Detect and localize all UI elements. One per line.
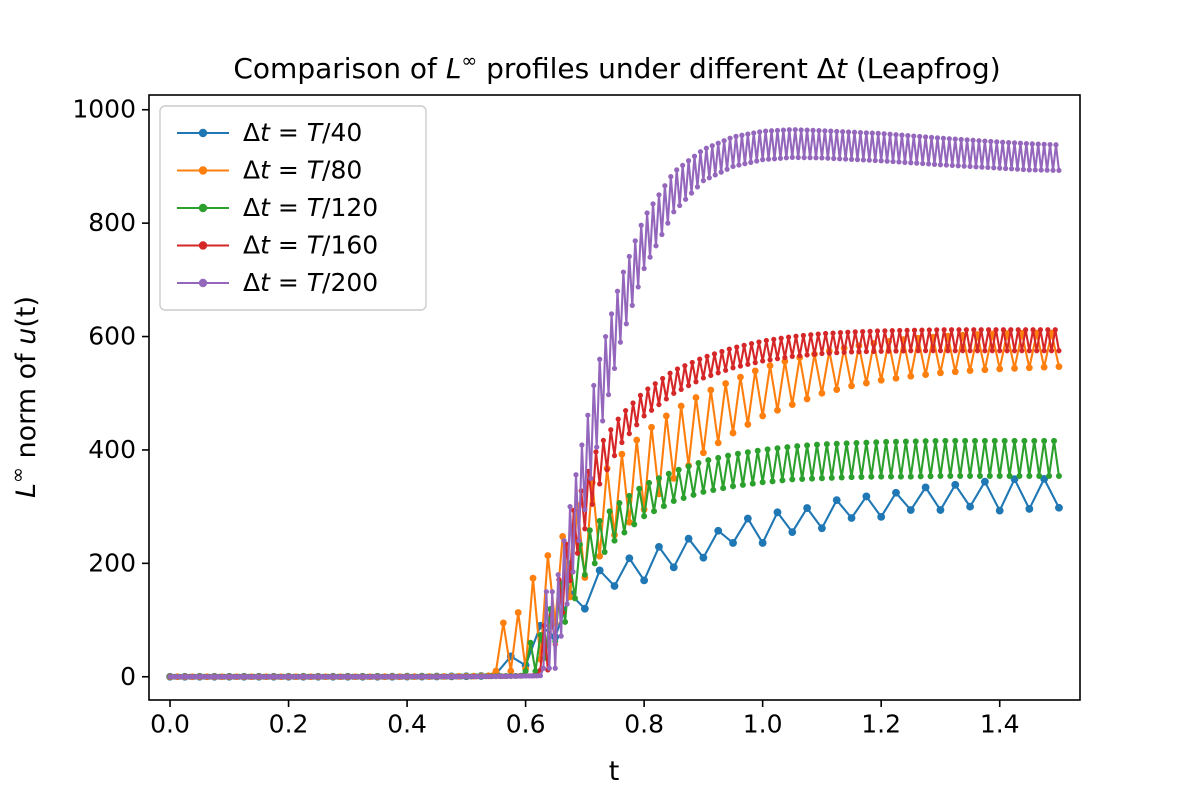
series-marker (861, 157, 866, 162)
series-marker (603, 334, 608, 339)
series-marker (837, 156, 842, 161)
series-marker (712, 351, 717, 356)
series-marker (810, 128, 815, 133)
series-marker (882, 328, 887, 333)
series-marker (700, 449, 707, 456)
series-marker (991, 165, 996, 170)
series-marker (781, 128, 786, 133)
series-marker (812, 352, 817, 357)
series-marker (860, 329, 865, 334)
series-marker (550, 589, 555, 594)
series-marker (745, 449, 751, 455)
series-marker (911, 133, 916, 138)
series-marker (864, 349, 869, 354)
series-marker (1025, 505, 1033, 513)
series-marker (923, 348, 928, 353)
series-marker (636, 284, 641, 289)
series-marker (816, 331, 821, 336)
series-marker (638, 393, 643, 398)
series-marker (699, 554, 707, 562)
series-marker (801, 333, 806, 338)
chart-legend[interactable]: Δt = T/40Δt = T/80Δt = T/120Δt = T/160Δt… (160, 106, 426, 310)
series-marker (886, 349, 891, 354)
series-marker (690, 360, 695, 365)
series-marker (793, 334, 798, 339)
series-marker (890, 328, 895, 333)
series-marker (896, 159, 901, 164)
series-marker (562, 619, 568, 625)
series-marker (928, 473, 934, 479)
series-marker (802, 155, 807, 160)
series-marker (719, 170, 724, 175)
series-marker (748, 160, 753, 165)
series-marker (979, 327, 984, 332)
series-marker (979, 165, 984, 170)
series-marker (1036, 473, 1042, 479)
series-marker (868, 474, 874, 480)
series-marker (982, 138, 987, 143)
legend-label: Δt = T/80 (243, 156, 362, 185)
series-marker (962, 438, 968, 444)
series-marker (651, 508, 657, 514)
series-marker (659, 232, 664, 237)
series-marker (766, 157, 771, 162)
series-marker (633, 437, 640, 444)
series-marker (976, 138, 981, 143)
series-marker (753, 360, 758, 365)
series-marker (588, 476, 593, 481)
series-marker (650, 201, 655, 206)
series-marker (992, 438, 998, 444)
series-marker (1016, 473, 1022, 479)
series-marker (779, 477, 785, 483)
series-marker (621, 269, 626, 274)
series-marker (1056, 473, 1062, 479)
series-marker (759, 413, 766, 420)
series-marker (1015, 167, 1020, 172)
series-marker (877, 513, 885, 521)
series-marker (1021, 438, 1027, 444)
series-marker (739, 133, 744, 138)
x-axis-label: t (609, 756, 620, 787)
legend-swatch-marker (199, 279, 207, 287)
series-marker (949, 327, 954, 332)
series-marker (1042, 348, 1047, 353)
series-marker (640, 576, 648, 584)
series-marker (905, 133, 910, 138)
series-marker (845, 330, 850, 335)
series-marker (697, 357, 702, 362)
series-marker (661, 503, 667, 509)
series-marker (813, 155, 818, 160)
series-marker (1009, 166, 1014, 171)
series-marker (893, 375, 900, 382)
series-marker (630, 400, 635, 405)
series-marker (715, 455, 721, 461)
x-tick-label: 0.2 (269, 709, 309, 738)
series-marker (956, 327, 961, 332)
series-marker (656, 475, 662, 481)
series-marker (950, 163, 955, 168)
series-marker (876, 131, 881, 136)
series-marker (611, 582, 619, 590)
series-marker (671, 209, 676, 214)
series-marker (879, 158, 884, 163)
series-marker (1026, 364, 1033, 371)
series-marker (977, 473, 983, 479)
series-marker (750, 481, 756, 487)
series-marker (867, 329, 872, 334)
series-marker (967, 164, 972, 169)
series-marker (1000, 140, 1005, 145)
series-marker (716, 370, 721, 375)
series-marker (1008, 327, 1013, 332)
series-marker (858, 474, 864, 480)
series-marker (685, 535, 693, 543)
series-marker (695, 184, 700, 189)
series-marker (752, 367, 759, 374)
series-marker (893, 348, 898, 353)
x-tick-label: 0.4 (387, 709, 427, 738)
series-marker (573, 472, 578, 477)
series-marker (515, 609, 522, 616)
series-marker (686, 383, 691, 388)
series-marker (789, 401, 796, 408)
series-marker (655, 543, 663, 551)
series-marker (1056, 168, 1061, 173)
series-marker (907, 373, 914, 380)
series-marker (1012, 438, 1018, 444)
series-marker (612, 538, 618, 544)
series-marker (1041, 438, 1047, 444)
series-marker (1051, 438, 1057, 444)
series-marker (933, 438, 939, 444)
series-marker (942, 327, 947, 332)
series-marker (582, 572, 588, 578)
series-marker (1045, 327, 1050, 332)
series-marker (616, 500, 622, 506)
series-marker (920, 161, 925, 166)
series-marker (1001, 327, 1006, 332)
series-marker (849, 157, 854, 162)
series-marker (755, 448, 761, 454)
series-marker (701, 178, 706, 183)
y-tick-label: 0 (120, 662, 136, 691)
series-marker (863, 440, 869, 446)
series-marker (926, 161, 931, 166)
series-marker (735, 451, 741, 457)
series-marker (893, 439, 899, 445)
series-marker (667, 371, 672, 376)
series-marker (965, 137, 970, 142)
series-marker (596, 553, 603, 560)
series-marker (848, 514, 856, 522)
series-marker (725, 453, 731, 459)
series-marker (671, 391, 676, 396)
series-marker (844, 440, 850, 446)
series-marker (1003, 166, 1008, 171)
series-marker (623, 408, 628, 413)
series-marker (686, 463, 692, 469)
series-marker (819, 351, 824, 356)
series-marker (1042, 142, 1047, 147)
series-marker (730, 483, 736, 489)
series-marker (849, 349, 854, 354)
series-marker (606, 392, 611, 397)
chart-plot: Comparison of L∞ profiles under differen… (0, 0, 1200, 800)
series-marker (576, 538, 581, 543)
series-marker (715, 439, 722, 446)
series-marker (997, 166, 1002, 171)
y-tick-label: 200 (88, 548, 136, 577)
series-marker (893, 132, 898, 137)
series-marker (867, 158, 872, 163)
series-marker (996, 507, 1004, 515)
series-marker (675, 366, 680, 371)
series-marker (765, 446, 771, 452)
series-marker (986, 327, 991, 332)
series-marker (593, 449, 598, 454)
series-marker (814, 442, 820, 448)
series-marker (745, 362, 750, 367)
series-marker (834, 441, 840, 447)
series-marker (935, 135, 940, 140)
series-marker (608, 427, 613, 432)
series-marker (556, 572, 561, 577)
series-marker (722, 380, 729, 387)
series-marker (825, 156, 830, 161)
series-marker (942, 438, 948, 444)
series-marker (646, 480, 652, 486)
series-marker (1055, 504, 1063, 512)
series-marker (1050, 168, 1055, 173)
series-marker (804, 396, 811, 403)
series-marker (740, 482, 746, 488)
series-marker (1033, 167, 1038, 172)
series-marker (641, 513, 647, 519)
series-marker (760, 157, 765, 162)
series-marker (839, 475, 845, 481)
series-marker (722, 138, 727, 143)
series-marker (656, 192, 661, 197)
series-marker (544, 552, 551, 559)
series-marker (808, 332, 813, 337)
series-marker (597, 518, 603, 524)
series-marker (730, 365, 735, 370)
series-marker (941, 136, 946, 141)
series-marker (879, 349, 884, 354)
series-marker (1011, 365, 1018, 372)
series-marker (1002, 438, 1008, 444)
series-marker (793, 127, 798, 132)
series-marker (763, 129, 768, 134)
series-marker (663, 413, 670, 420)
series-marker (553, 666, 558, 671)
series-marker (642, 413, 647, 418)
series-marker (782, 355, 787, 360)
series-marker (1023, 327, 1028, 332)
series-marker (642, 266, 647, 271)
series-marker (908, 348, 913, 353)
series-marker (678, 403, 685, 410)
series-marker (547, 666, 552, 671)
series-marker (572, 595, 578, 601)
series-marker (947, 136, 952, 141)
series-marker (846, 129, 851, 134)
series-marker (967, 367, 974, 374)
series-marker (964, 327, 969, 332)
series-marker (973, 164, 978, 169)
series-marker (829, 475, 835, 481)
legend-label: Δt = T/120 (243, 193, 378, 222)
series-marker (1046, 473, 1052, 479)
series-marker (1056, 348, 1061, 353)
series-marker (944, 162, 949, 167)
series-marker (710, 143, 715, 148)
series-marker (799, 476, 805, 482)
series-marker (959, 137, 964, 142)
series-marker (771, 337, 776, 342)
series-marker (692, 154, 697, 159)
series-marker (988, 139, 993, 144)
series-marker (922, 483, 930, 491)
series-marker (1030, 141, 1035, 146)
series-marker (662, 183, 667, 188)
series-marker (908, 160, 913, 165)
series-marker (745, 132, 750, 137)
series-marker (1031, 438, 1037, 444)
series-marker (530, 575, 537, 582)
series-marker (967, 473, 973, 479)
series-marker (1049, 348, 1054, 353)
series-marker (767, 362, 774, 369)
series-marker (676, 467, 682, 473)
series-marker (970, 138, 975, 143)
series-marker (834, 350, 839, 355)
series-marker (873, 439, 879, 445)
series-marker (830, 330, 835, 335)
series-marker (710, 487, 716, 493)
series-marker (927, 327, 932, 332)
figure-canvas: Comparison of L∞ profiles under differen… (0, 0, 1200, 800)
legend-swatch-marker (199, 241, 207, 249)
series-marker (616, 417, 621, 422)
y-tick-label: 1000 (72, 95, 136, 124)
series-marker (858, 130, 863, 135)
series-marker (730, 164, 735, 169)
series-marker (919, 328, 924, 333)
series-marker (901, 348, 906, 353)
series-marker (1006, 140, 1011, 145)
series-marker (633, 238, 638, 243)
series-marker (937, 473, 943, 479)
series-marker (786, 335, 791, 340)
y-tick-label: 800 (88, 208, 136, 237)
series-marker (736, 162, 741, 167)
series-marker (1012, 140, 1017, 145)
series-marker (883, 439, 889, 445)
series-marker (916, 348, 921, 353)
series-marker (953, 348, 958, 353)
series-marker (823, 331, 828, 336)
series-marker (594, 445, 599, 450)
series-marker (907, 506, 915, 514)
series-marker (627, 254, 632, 259)
series-marker (828, 129, 833, 134)
series-marker (875, 328, 880, 333)
series-marker (559, 634, 564, 639)
series-marker (788, 528, 796, 536)
series-marker (833, 496, 841, 504)
x-tick-label: 1.4 (980, 709, 1020, 738)
series-marker (878, 377, 885, 384)
series-marker (914, 161, 919, 166)
series-marker (714, 527, 722, 535)
series-marker (827, 351, 832, 356)
series-marker (982, 348, 987, 353)
y-axis-label: L∞ norm of u(t) (7, 296, 42, 498)
series-marker (805, 128, 810, 133)
series-marker (774, 445, 780, 451)
series-marker (972, 438, 978, 444)
series-marker (938, 162, 943, 167)
series-marker (596, 567, 604, 575)
series-marker (679, 387, 684, 392)
series-marker (947, 473, 953, 479)
series-marker (770, 478, 776, 484)
series-marker (887, 132, 892, 137)
series-marker (966, 503, 974, 511)
series-marker (1045, 168, 1050, 173)
series-marker (769, 128, 774, 133)
series-marker (677, 203, 682, 208)
series-marker (668, 174, 673, 179)
series-marker (665, 221, 670, 226)
series-marker (856, 349, 861, 354)
series-marker (619, 451, 626, 458)
series-marker (778, 156, 783, 161)
legend-label: Δt = T/160 (243, 231, 378, 260)
series-marker (982, 438, 988, 444)
series-marker (619, 440, 624, 445)
series-marker (631, 521, 637, 527)
legend-label: Δt = T/200 (243, 268, 378, 297)
series-marker (621, 530, 627, 536)
series-marker (789, 476, 795, 482)
series-marker (636, 486, 642, 492)
series-marker (902, 160, 907, 165)
series-marker (751, 130, 756, 135)
series-marker (582, 507, 587, 512)
series-marker (1026, 473, 1032, 479)
series-marker (934, 327, 939, 332)
series-marker (693, 394, 700, 401)
series-marker (713, 172, 718, 177)
series-marker (772, 156, 777, 161)
series-marker (528, 640, 534, 646)
series-marker (564, 601, 569, 606)
series-marker (670, 563, 678, 571)
series-marker (705, 457, 711, 463)
series-marker (682, 363, 687, 368)
series-marker (734, 344, 739, 349)
series-marker (1005, 348, 1010, 353)
series-marker (937, 506, 945, 514)
series-marker (997, 473, 1003, 479)
series-marker (579, 442, 584, 447)
series-marker (733, 134, 738, 139)
series-marker (653, 381, 658, 386)
